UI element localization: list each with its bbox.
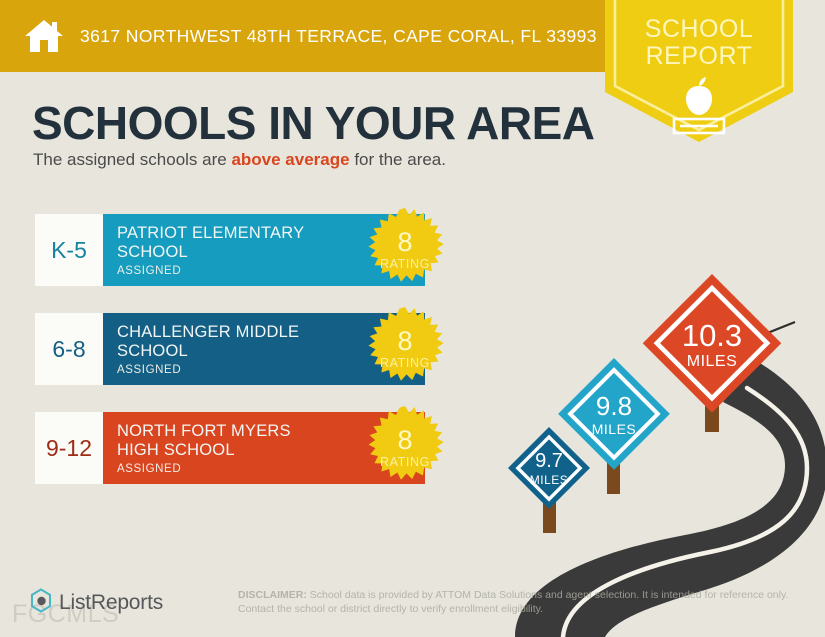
brand-name: ListReports <box>59 591 163 615</box>
subtitle-highlight: above average <box>231 150 349 169</box>
distance-sign: 10.3 MILES <box>637 270 787 420</box>
subtitle-after: for the area. <box>350 150 446 169</box>
listreports-logo[interactable]: ListReports <box>30 588 163 618</box>
grade-range: 6-8 <box>35 313 103 385</box>
page-subtitle: The assigned schools are above average f… <box>33 150 446 170</box>
rating-badge: 8 RATING <box>361 206 449 294</box>
disclaimer-body: School data is provided by ATTOM Data So… <box>238 589 788 615</box>
listreports-house-icon <box>30 588 52 618</box>
rating-content: 8 RATING <box>361 305 449 393</box>
home-icon <box>22 14 66 58</box>
disclaimer-text: DISCLAIMER: School data is provided by A… <box>238 588 793 616</box>
subtitle-before: The assigned schools are <box>33 150 231 169</box>
school-report-badge: SCHOOL REPORT <box>605 0 793 142</box>
rating-label: RATING <box>380 356 430 370</box>
property-address: 3617 NORTHWEST 48TH TERRACE, CAPE CORAL,… <box>80 26 597 47</box>
rating-badge: 8 RATING <box>361 305 449 393</box>
grade-range: 9-12 <box>35 412 103 484</box>
grade-range: K-5 <box>35 214 103 286</box>
disclaimer-label: DISCLAIMER: <box>238 589 307 601</box>
rating-badge: 8 RATING <box>361 404 449 492</box>
road-illustration: 9.7 MILES 9.8 MILES 10.3 MILES <box>455 250 825 637</box>
rating-value: 8 <box>397 427 412 453</box>
rating-content: 8 RATING <box>361 206 449 294</box>
rating-content: 8 RATING <box>361 404 449 492</box>
page-title: SCHOOLS IN YOUR AREA <box>32 96 595 150</box>
rating-value: 8 <box>397 328 412 354</box>
header-bar: 3617 NORTHWEST 48TH TERRACE, CAPE CORAL,… <box>0 0 625 72</box>
rating-label: RATING <box>380 257 430 271</box>
rating-label: RATING <box>380 455 430 469</box>
rating-value: 8 <box>397 229 412 255</box>
school-report-infographic: 3617 NORTHWEST 48TH TERRACE, CAPE CORAL,… <box>0 0 825 637</box>
